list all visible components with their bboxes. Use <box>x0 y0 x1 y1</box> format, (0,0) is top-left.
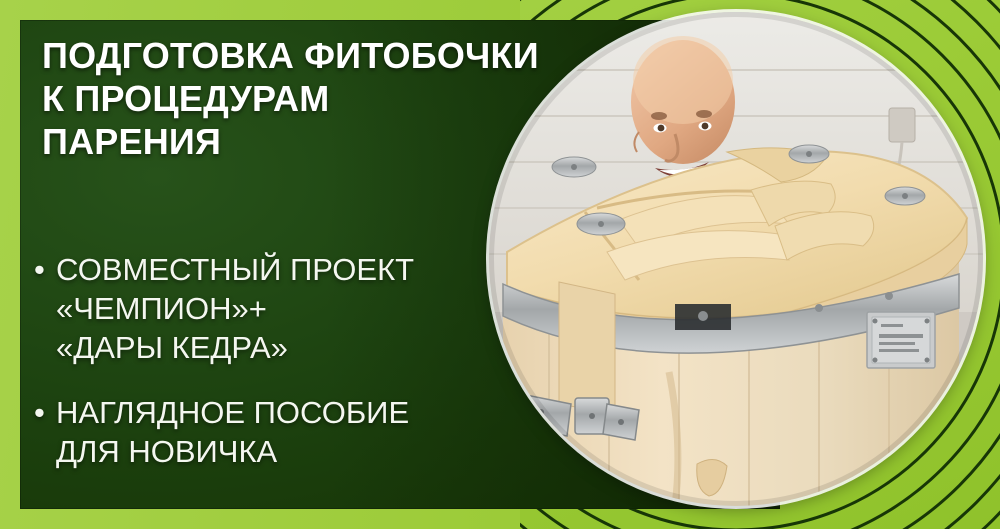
bullet-dot-icon: • <box>34 393 56 432</box>
poster-canvas: ПОДГОТОВКА ФИТОБОЧКИ К ПРОЦЕДУРАМ ПАРЕНИ… <box>0 0 1000 529</box>
list-item: • СОВМЕСТНЫЙ ПРОЕКТ «ЧЕМПИОН»+ «ДАРЫ КЕД… <box>34 250 554 367</box>
phyto-barrel-photo-illustration <box>489 12 983 506</box>
bullet-dot-icon: • <box>34 250 56 289</box>
circular-photo <box>489 12 983 506</box>
list-item: • НАГЛЯДНОЕ ПОСОБИЕ ДЛЯ НОВИЧКА <box>34 393 554 471</box>
bullet-list: • СОВМЕСТНЫЙ ПРОЕКТ «ЧЕМПИОН»+ «ДАРЫ КЕД… <box>34 250 554 497</box>
bullet-text: СОВМЕСТНЫЙ ПРОЕКТ «ЧЕМПИОН»+ «ДАРЫ КЕДРА… <box>56 250 554 367</box>
bullet-text: НАГЛЯДНОЕ ПОСОБИЕ ДЛЯ НОВИЧКА <box>56 393 554 471</box>
